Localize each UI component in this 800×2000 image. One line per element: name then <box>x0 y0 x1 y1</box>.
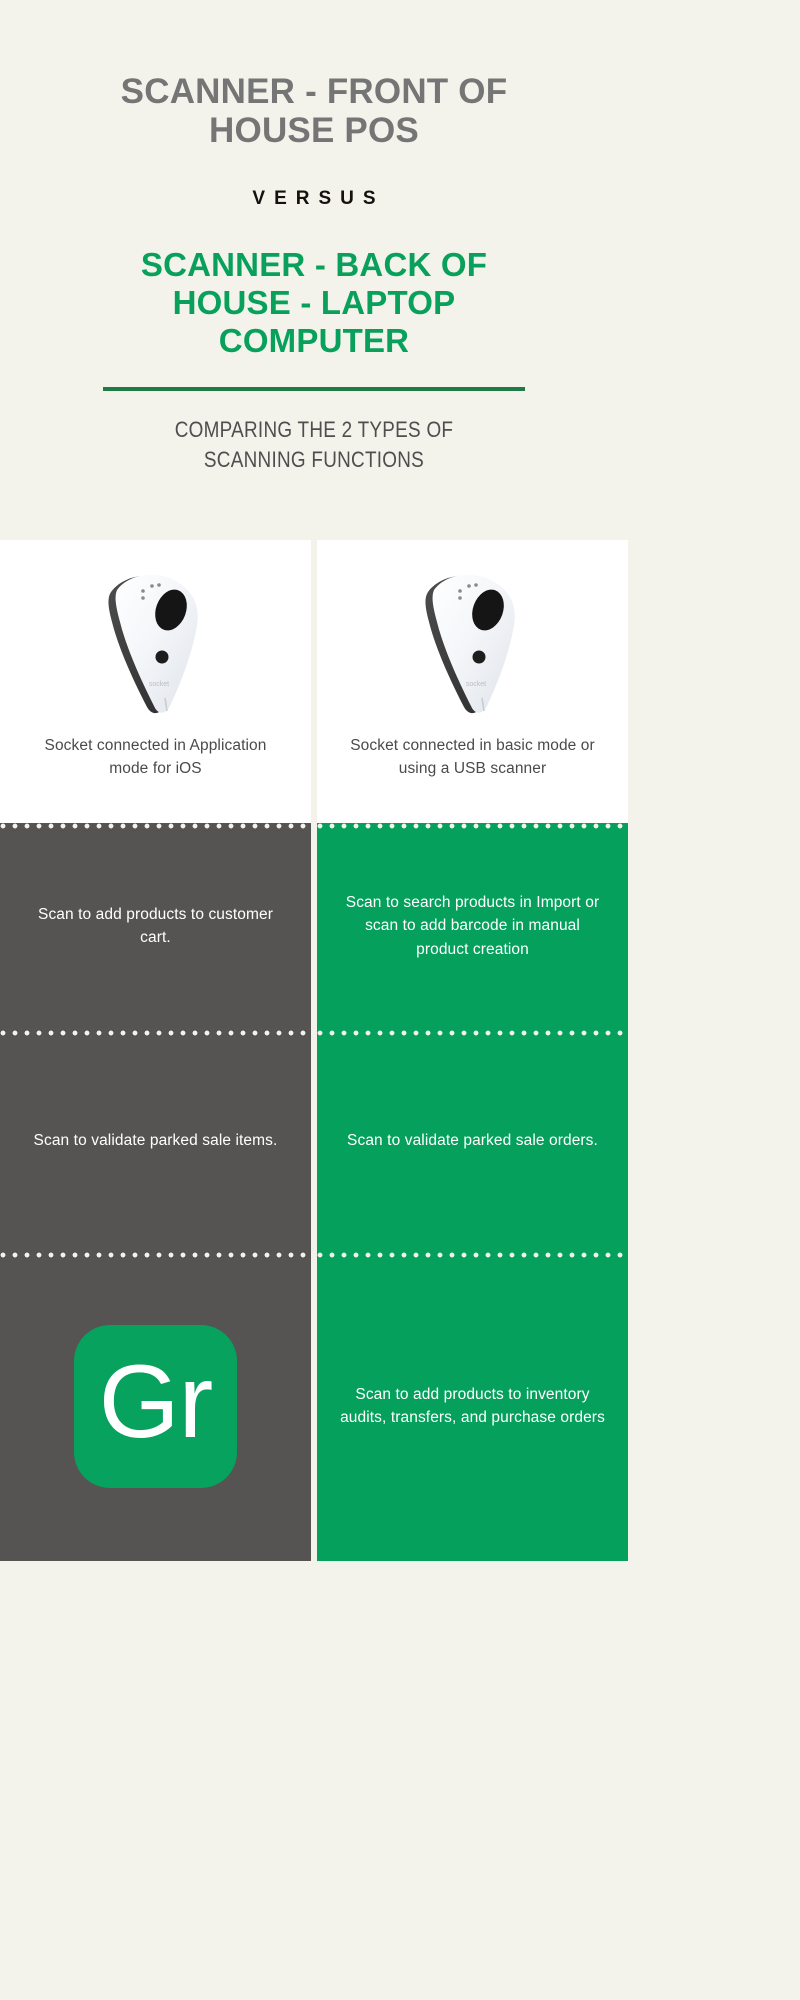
page-title-secondary: SCANNER - BACK OF HOUSE - LAPTOP COMPUTE… <box>79 246 549 360</box>
feature-cell-right-2: Scan to validate parked sale orders. <box>317 1030 628 1252</box>
header: SCANNER - FRONT OF HOUSE POS VERSUS SCAN… <box>0 0 628 475</box>
scanner-card-right: socket Socket connected in basic mode or… <box>317 540 628 823</box>
page-subtitle: COMPARING THE 2 TYPES OF SCANNING FUNCTI… <box>142 415 486 474</box>
greenline-app-icon: Gr <box>74 1325 237 1488</box>
feature-cell-left-3: Gr <box>0 1252 311 1561</box>
title-divider <box>103 387 525 391</box>
feature-text: Scan to validate parked sale items. <box>34 1129 278 1153</box>
scanner-caption-right: Socket connected in basic mode or using … <box>317 720 628 781</box>
comparison-columns: socket Socket connected in Application m… <box>0 540 628 1561</box>
feature-text: Scan to add products to customer cart. <box>22 903 289 950</box>
page-title-primary: SCANNER - FRONT OF HOUSE POS <box>64 72 564 150</box>
socket-scanner-icon: socket <box>81 558 231 720</box>
feature-cell-right-3: Scan to add products to inventory audits… <box>317 1252 628 1561</box>
svg-text:socket: socket <box>148 681 168 688</box>
footer-spacer <box>0 1561 628 1605</box>
versus-label: VERSUS <box>42 188 586 210</box>
feature-cell-left-2: Scan to validate parked sale items. <box>0 1030 311 1252</box>
feature-cell-right-1: Scan to search products in Import or sca… <box>317 823 628 1030</box>
scanner-caption-left: Socket connected in Application mode for… <box>0 720 311 781</box>
svg-text:socket: socket <box>465 681 485 688</box>
feature-text: Scan to validate parked sale orders. <box>347 1129 598 1153</box>
feature-cell-left-1: Scan to add products to customer cart. <box>0 823 311 1030</box>
feature-text: Scan to search products in Import or sca… <box>339 891 606 962</box>
socket-scanner-icon: socket <box>398 558 548 720</box>
infographic-poster: SCANNER - FRONT OF HOUSE POS VERSUS SCAN… <box>0 0 628 2000</box>
scanner-card-left: socket Socket connected in Application m… <box>0 540 311 823</box>
column-front-of-house: socket Socket connected in Application m… <box>0 540 311 1561</box>
column-back-of-house: socket Socket connected in basic mode or… <box>317 540 628 1561</box>
feature-text: Scan to add products to inventory audits… <box>339 1383 606 1430</box>
